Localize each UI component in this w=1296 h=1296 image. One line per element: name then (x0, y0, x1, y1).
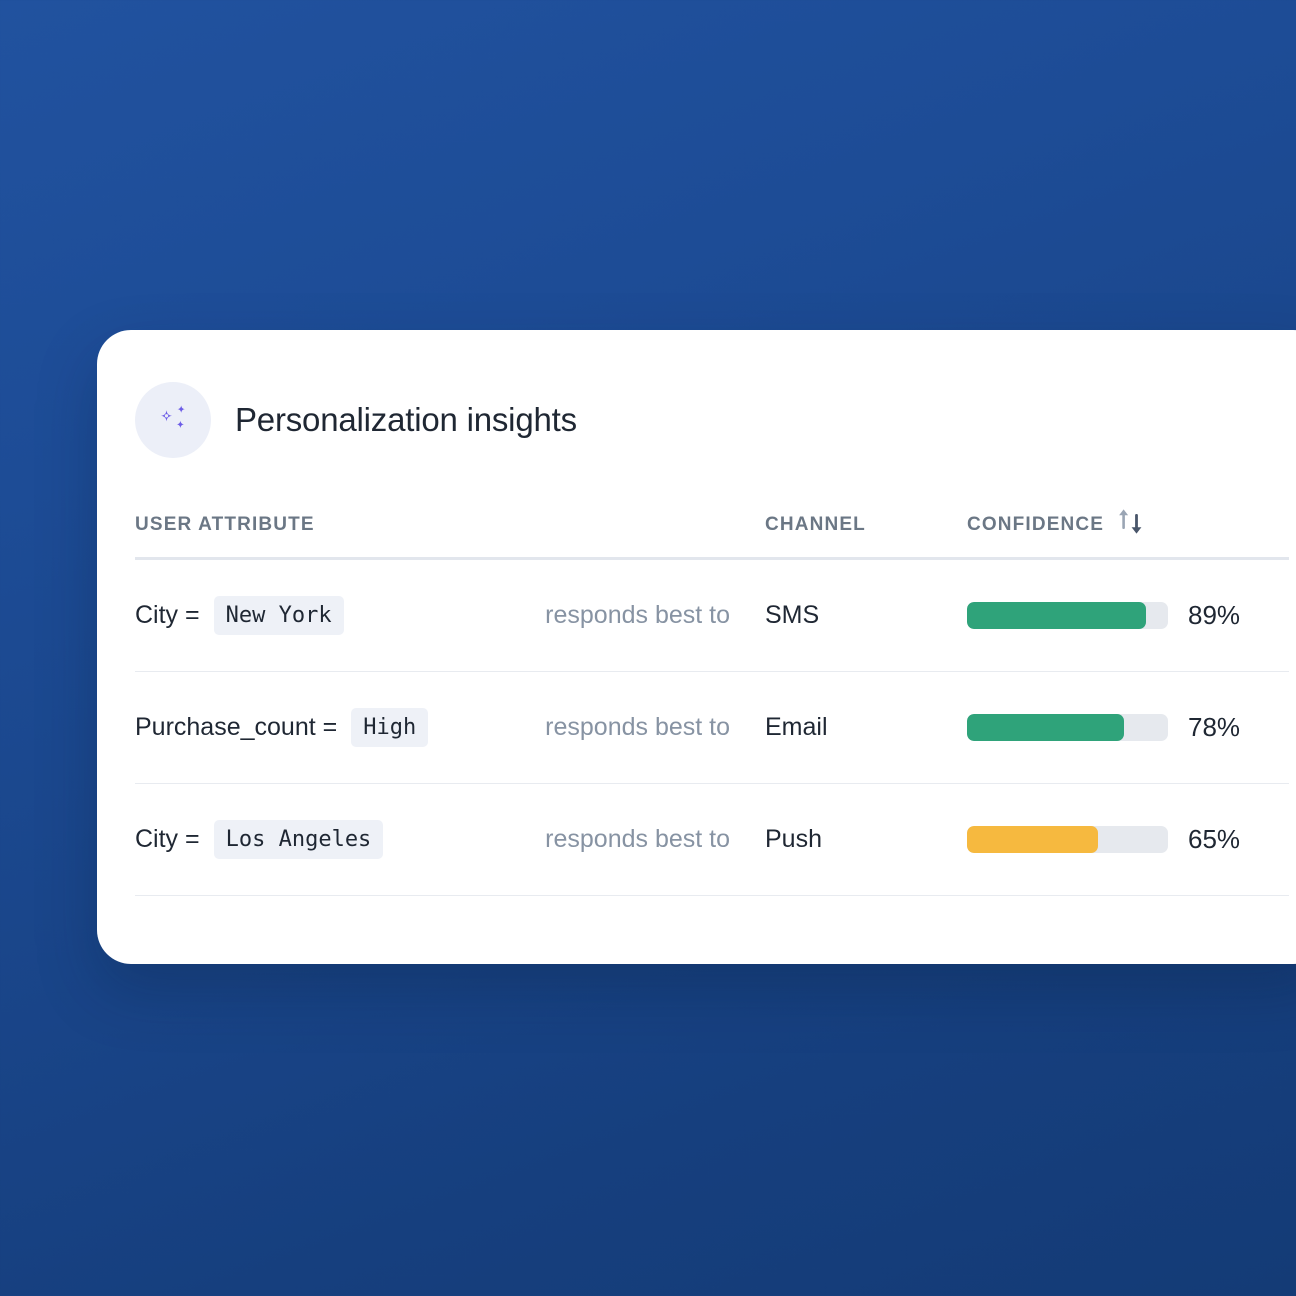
attribute-key: City = (135, 825, 200, 854)
card-header: Personalization insights (135, 330, 1289, 458)
confidence-value: 89% (1188, 600, 1240, 631)
confidence-value: 65% (1188, 824, 1240, 855)
table-row[interactable]: City = Los Angeles responds best to Push… (135, 784, 1289, 896)
channel-cell: Email (765, 713, 967, 742)
attribute-key: City = (135, 601, 200, 630)
confidence-cell: 78% (967, 712, 1289, 743)
sort-updown-icon[interactable] (1118, 508, 1143, 541)
confidence-bar-fill (967, 826, 1098, 853)
attribute-value-chip: High (351, 708, 428, 748)
relation-phrase: responds best to (545, 713, 765, 742)
table-header-row: USER ATTRIBUTE CHANNEL CONFIDENCE (135, 508, 1289, 560)
user-attribute-cell: Purchase_count = High responds best to (135, 708, 765, 748)
sparkle-icon (135, 382, 211, 458)
attribute-value-chip: New York (214, 596, 344, 636)
confidence-bar-track (967, 826, 1168, 853)
column-header-confidence[interactable]: CONFIDENCE (967, 508, 1289, 541)
channel-cell: Push (765, 825, 967, 854)
table-row[interactable]: City = New York responds best to SMS 89% (135, 560, 1289, 672)
attribute-key: Purchase_count = (135, 713, 337, 742)
table-row[interactable]: Purchase_count = High responds best to E… (135, 672, 1289, 784)
confidence-bar-track (967, 714, 1168, 741)
insights-table: USER ATTRIBUTE CHANNEL CONFIDENCE (135, 508, 1289, 896)
relation-phrase: responds best to (545, 601, 765, 630)
confidence-bar-fill (967, 602, 1146, 629)
column-header-channel: CHANNEL (765, 514, 967, 536)
column-header-user-attribute: USER ATTRIBUTE (135, 514, 765, 536)
confidence-value: 78% (1188, 712, 1240, 743)
confidence-cell: 89% (967, 600, 1289, 631)
attribute-value-chip: Los Angeles (214, 820, 384, 860)
confidence-bar-track (967, 602, 1168, 629)
user-attribute-cell: City = Los Angeles responds best to (135, 820, 765, 860)
relation-phrase: responds best to (545, 825, 765, 854)
confidence-bar-fill (967, 714, 1124, 741)
page-title: Personalization insights (235, 401, 577, 439)
confidence-cell: 65% (967, 824, 1289, 855)
column-header-confidence-label: CONFIDENCE (967, 514, 1104, 536)
channel-cell: SMS (765, 601, 967, 630)
personalization-insights-card: Personalization insights USER ATTRIBUTE … (97, 330, 1296, 964)
user-attribute-cell: City = New York responds best to (135, 596, 765, 636)
